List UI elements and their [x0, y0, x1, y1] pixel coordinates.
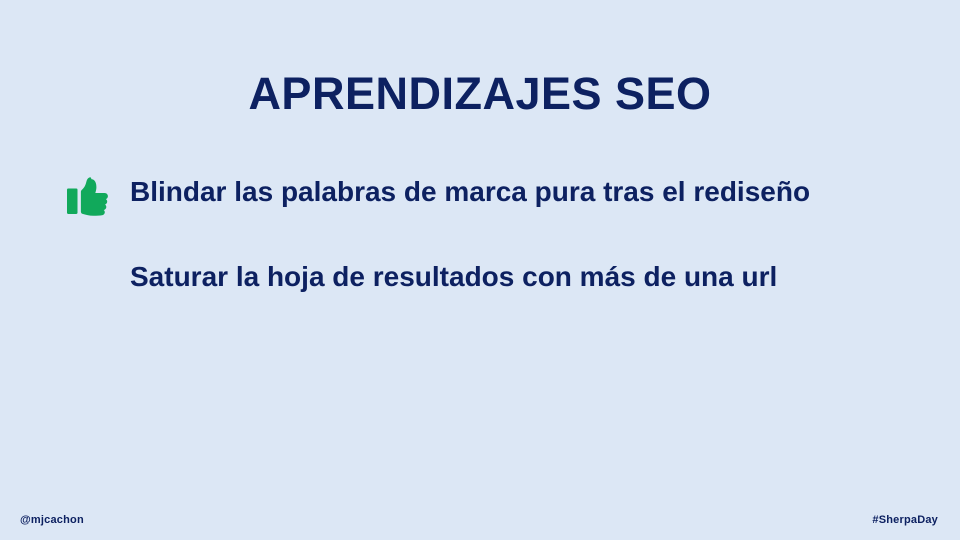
thumbs-up-icon	[66, 176, 112, 218]
footer-hashtag: #SherpaDay	[872, 514, 938, 527]
slide-canvas: APRENDIZAJES SEO Blindar las palabras de…	[0, 0, 960, 540]
list-item: Blindar las palabras de marca pura tras …	[66, 172, 946, 218]
list-item: Saturar la hoja de resultados con más de…	[130, 257, 946, 296]
slide-footer: @mjcachon #SherpaDay	[0, 496, 960, 540]
bullet-list: Blindar las palabras de marca pura tras …	[66, 172, 946, 296]
footer-handle: @mjcachon	[20, 514, 84, 527]
title-container: APRENDIZAJES SEO	[0, 38, 960, 150]
bullet-text-2: Saturar la hoja de resultados con más de…	[130, 257, 777, 296]
page-title: APRENDIZAJES SEO	[248, 68, 711, 120]
bullet-text-1: Blindar las palabras de marca pura tras …	[130, 172, 810, 211]
